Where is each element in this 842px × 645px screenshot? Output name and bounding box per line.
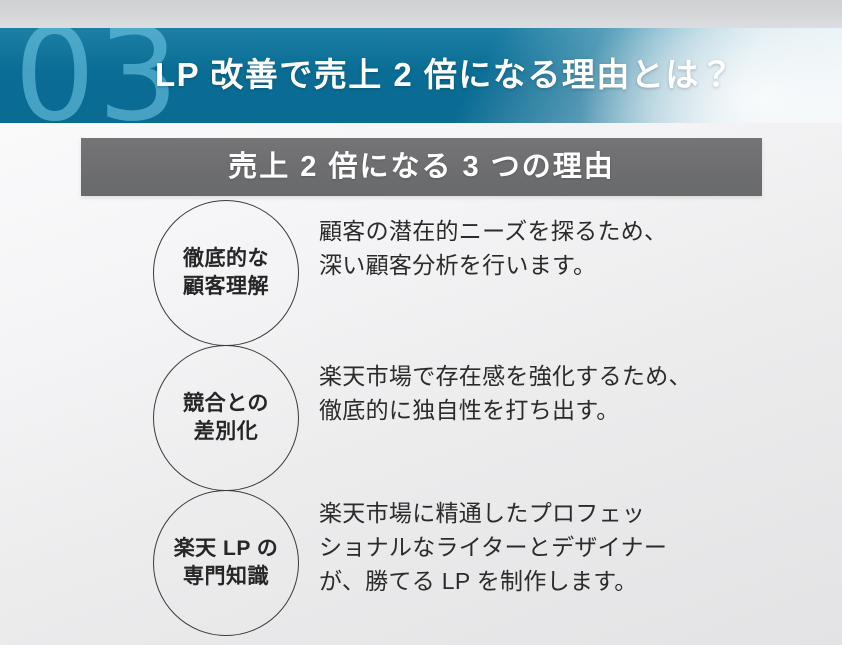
reason-circle-line: 顧客理解	[183, 273, 269, 301]
reason-description-line: 楽天市場で存在感を強化するため、	[319, 359, 789, 393]
reason-circle-line: 徹底的な	[183, 245, 269, 273]
reason-description-line: 徹底的に独自性を打ち出す。	[319, 393, 789, 427]
reason-description-line: ショナルなライターとデザイナー	[319, 530, 789, 564]
reason-circle-line: 楽天 LP の	[174, 535, 279, 563]
reason-item: 競合との 差別化 楽天市場で存在感を強化するため、 徹底的に独自性を打ち出す。	[0, 341, 842, 489]
reason-description-line: 楽天市場に精通したプロフェッ	[319, 496, 789, 530]
reason-circle-line: 専門知識	[183, 563, 269, 591]
reason-circle-line: 差別化	[194, 418, 259, 446]
reason-circle: 楽天 LP の 専門知識	[153, 490, 299, 636]
subtitle-banner-label: 売上 2 倍になる 3 つの理由	[228, 153, 615, 182]
top-strip	[0, 0, 842, 28]
reason-description-line: 顧客の潜在的ニーズを探るため、	[319, 214, 789, 248]
reason-item: 楽天 LP の 専門知識 楽天市場に精通したプロフェッ ショナルなライターとデザ…	[0, 486, 842, 641]
reason-description: 楽天市場で存在感を強化するため、 徹底的に独自性を打ち出す。	[319, 359, 789, 427]
reason-description-line: 深い顧客分析を行います。	[319, 248, 789, 282]
reason-circle: 徹底的な 顧客理解	[153, 200, 299, 346]
subtitle-banner: 売上 2 倍になる 3 つの理由	[81, 138, 762, 196]
reason-item: 徹底的な 顧客理解 顧客の潜在的ニーズを探るため、 深い顧客分析を行います。	[0, 196, 842, 344]
reason-description-line: が、勝てる LP を制作します。	[319, 564, 789, 598]
slide: 03 LP 改善で売上 2 倍になる理由とは？ 売上 2 倍になる 3 つの理由…	[0, 0, 842, 645]
reason-circle-line: 競合との	[183, 390, 269, 418]
reason-circle: 競合との 差別化	[153, 345, 299, 491]
reason-description: 楽天市場に精通したプロフェッ ショナルなライターとデザイナー が、勝てる LP …	[319, 496, 789, 598]
page-title: LP 改善で売上 2 倍になる理由とは？	[155, 54, 734, 96]
reason-list: 徹底的な 顧客理解 顧客の潜在的ニーズを探るため、 深い顧客分析を行います。 競…	[0, 196, 842, 645]
header-bar: 03 LP 改善で売上 2 倍になる理由とは？	[0, 28, 842, 123]
reason-description: 顧客の潜在的ニーズを探るため、 深い顧客分析を行います。	[319, 214, 789, 282]
